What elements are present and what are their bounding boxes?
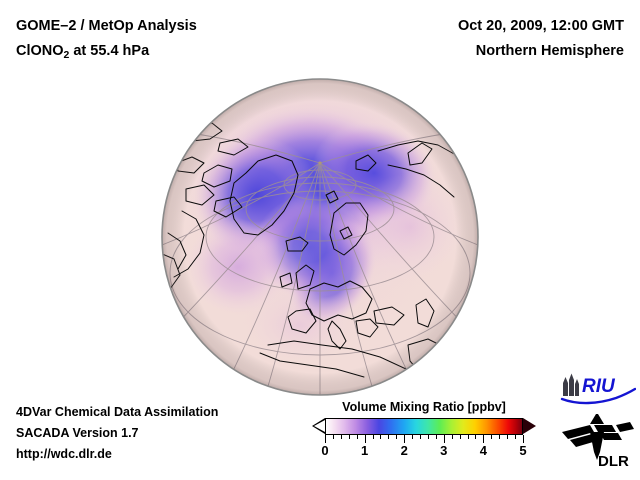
colorbar-tick-minor bbox=[420, 435, 421, 439]
colorbar-gradient bbox=[325, 418, 523, 435]
colorbar-tick-minor bbox=[436, 435, 437, 439]
timestamp: Oct 20, 2009, 12:00 GMT bbox=[458, 14, 624, 39]
footer-info: 4DVar Chemical Data Assimilation SACADA … bbox=[16, 402, 218, 465]
colorbar-tick-label: 3 bbox=[440, 443, 447, 458]
globe-map bbox=[160, 77, 480, 397]
colorbar-tick-label: 4 bbox=[480, 443, 487, 458]
colorbar-tick-minor bbox=[373, 435, 374, 439]
colorbar-extend-max-arrow bbox=[523, 418, 536, 434]
colorbar-tick-labels: 012345 bbox=[325, 443, 523, 461]
colorbar-ticks bbox=[325, 435, 523, 443]
dlr-logo: DLR bbox=[560, 412, 636, 470]
colorbar-tick-label: 5 bbox=[519, 443, 526, 458]
colorbar-tick-minor bbox=[412, 435, 413, 439]
colorbar-title: Volume Mixing Ratio [ppbv] bbox=[312, 400, 536, 414]
colorbar-tick-minor bbox=[388, 435, 389, 439]
colorbar-tick-minor bbox=[499, 435, 500, 439]
colorbar-tick-minor bbox=[380, 435, 381, 439]
colorbar-tick-major bbox=[404, 435, 405, 443]
north-pole-marker bbox=[318, 161, 321, 164]
colorbar-tick-minor bbox=[475, 435, 476, 439]
colorbar-tick-label: 2 bbox=[401, 443, 408, 458]
colorbar-tick-minor bbox=[396, 435, 397, 439]
colorbar-tick-label: 0 bbox=[321, 443, 328, 458]
colorbar-tick-minor bbox=[507, 435, 508, 439]
species-level-title: ClONO2 at 55.4 hPa bbox=[16, 39, 197, 68]
colorbar-tick-major bbox=[523, 435, 524, 443]
colorbar: Volume Mixing Ratio [ppbv] 012345 bbox=[312, 400, 536, 435]
colorbar-tick-major bbox=[444, 435, 445, 443]
riu-tower-icon bbox=[563, 374, 579, 397]
analysis-title: GOME–2 / MetOp Analysis bbox=[16, 14, 197, 39]
footer-version: SACADA Version 1.7 bbox=[16, 423, 218, 444]
colorbar-tick-minor bbox=[341, 435, 342, 439]
hemisphere-label: Northern Hemisphere bbox=[458, 39, 624, 64]
colorbar-tick-major bbox=[483, 435, 484, 443]
colorbar-tick-major bbox=[325, 435, 326, 443]
header-right: Oct 20, 2009, 12:00 GMT Northern Hemisph… bbox=[458, 14, 624, 64]
footer-url[interactable]: http://wdc.dlr.de bbox=[16, 444, 218, 465]
colorbar-tick-minor bbox=[491, 435, 492, 439]
colorbar-tick-minor bbox=[333, 435, 334, 439]
colorbar-extend-min-arrow bbox=[312, 418, 325, 434]
colorbar-tick-minor bbox=[460, 435, 461, 439]
species-name: ClONO bbox=[16, 43, 64, 59]
pressure-level: at 55.4 hPa bbox=[69, 43, 149, 59]
colorbar-tick-minor bbox=[349, 435, 350, 439]
colorbar-tick-major bbox=[365, 435, 366, 443]
colorbar-row: 012345 bbox=[312, 418, 536, 435]
header-left: GOME–2 / MetOp Analysis ClONO2 at 55.4 h… bbox=[16, 14, 197, 68]
footer-method: 4DVar Chemical Data Assimilation bbox=[16, 402, 218, 423]
colorbar-tick-minor bbox=[452, 435, 453, 439]
colorbar-tick-minor bbox=[515, 435, 516, 439]
riu-logo: RIU bbox=[560, 372, 636, 406]
colorbar-tick-label: 1 bbox=[361, 443, 368, 458]
riu-wordmark: RIU bbox=[582, 376, 616, 397]
colorbar-tick-minor bbox=[468, 435, 469, 439]
colorbar-tick-minor bbox=[357, 435, 358, 439]
dlr-wordmark: DLR bbox=[598, 453, 629, 470]
colorbar-tick-minor bbox=[428, 435, 429, 439]
